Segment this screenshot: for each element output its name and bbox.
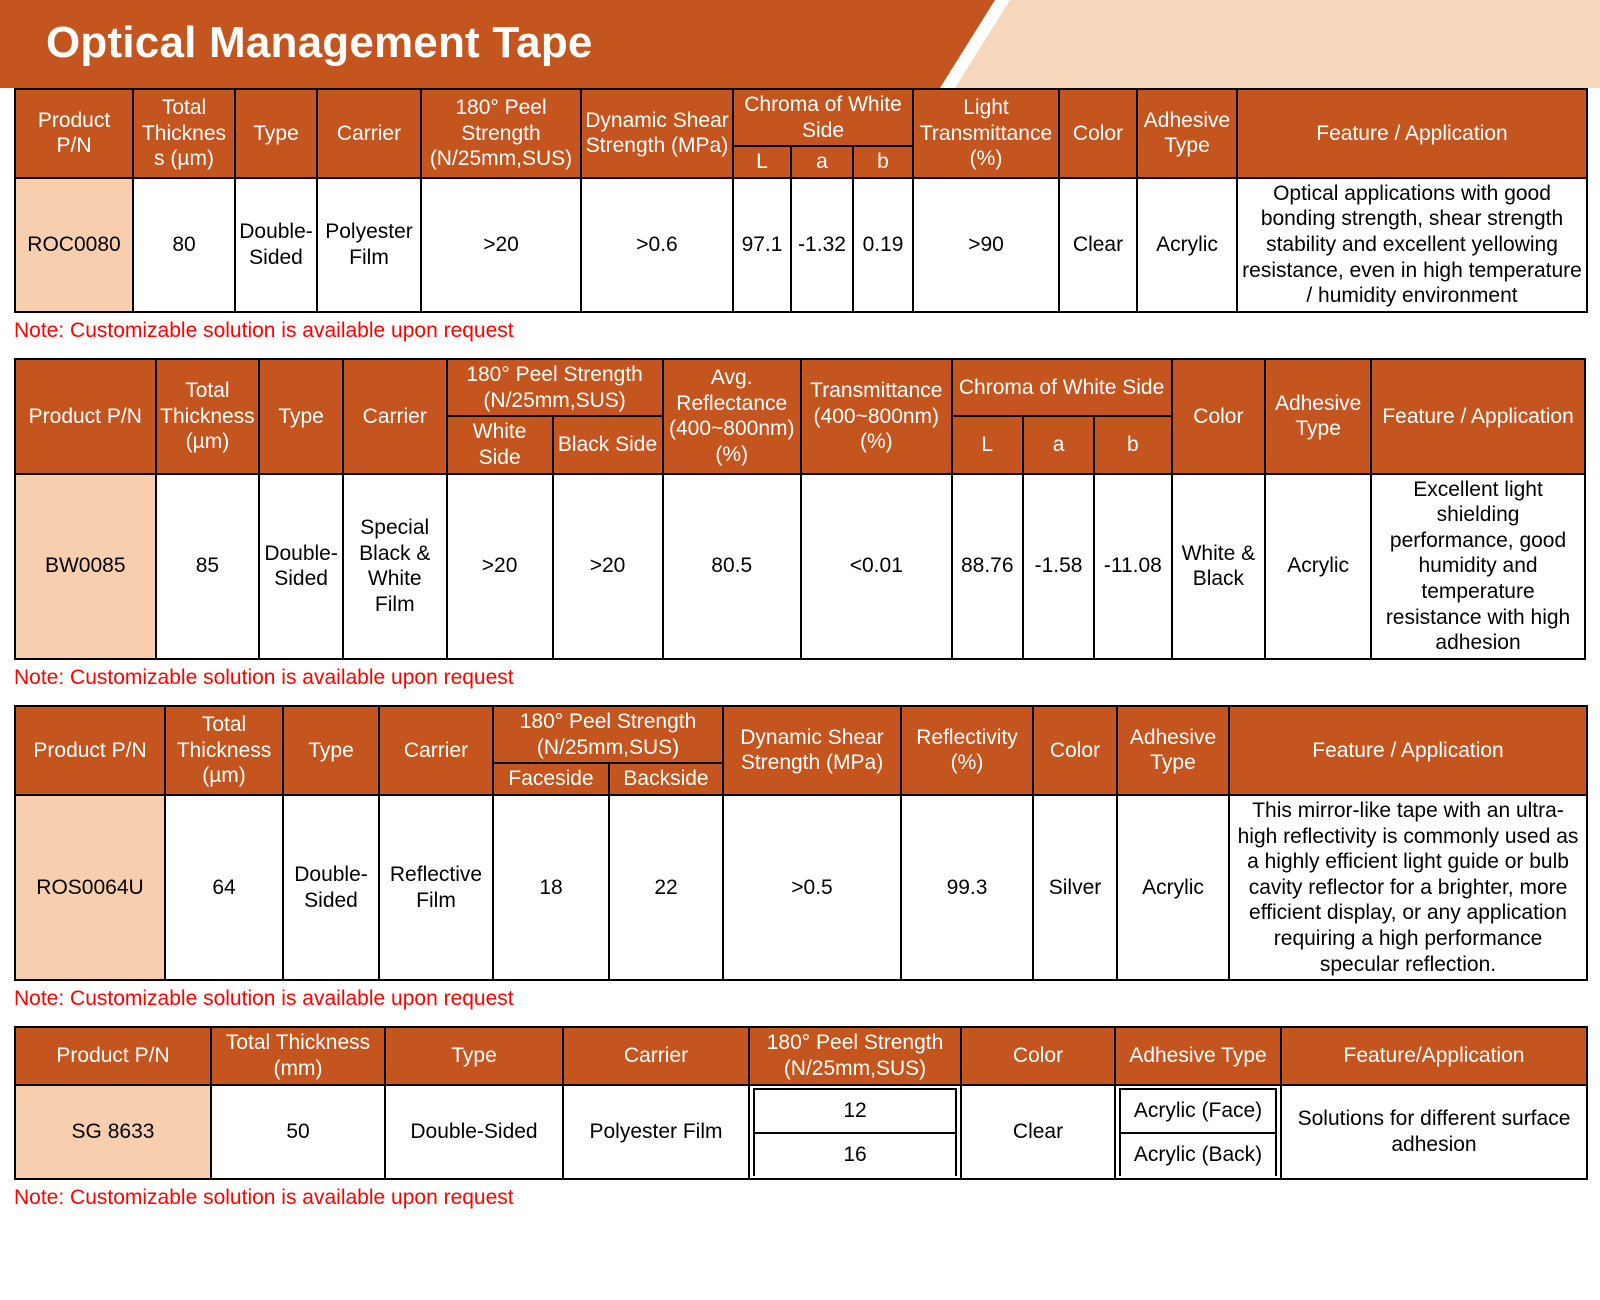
col-header-peel-backside: Backside <box>609 763 723 795</box>
cell-adhesive-type-group: Acrylic (Face) Acrylic (Back) <box>1115 1085 1281 1179</box>
cell-product-pn: ROC0080 <box>15 178 133 312</box>
table-row: ROS0064U 64 Double-Sided Reflective Film… <box>15 795 1587 980</box>
cell-chroma-l: 97.1 <box>733 178 791 312</box>
cell-carrier: Polyester Film <box>563 1085 749 1179</box>
table-row: SG 8633 50 Double-Sided Polyester Film 1… <box>15 1085 1587 1179</box>
cell-total-thickness: 50 <box>211 1085 385 1179</box>
cell-peel-strength-back: 16 <box>754 1133 956 1176</box>
cell-product-pn: ROS0064U <box>15 795 165 980</box>
col-header-product-pn: Product P/N <box>15 706 165 795</box>
cell-type: Double-Sided <box>385 1085 563 1179</box>
col-header-total-thickness: Total Thickness (µm) <box>165 706 283 795</box>
col-header-carrier: Carrier <box>563 1027 749 1084</box>
col-header-color: Color <box>1059 89 1137 178</box>
col-header-feature: Feature / Application <box>1371 359 1585 473</box>
table-bw0085: Product P/N Total Thickness (µm) Type Ca… <box>14 358 1586 660</box>
col-header-chroma-a: a <box>1023 416 1094 473</box>
table-row: BW0085 85 Double-Sided Special Black & W… <box>15 474 1585 659</box>
adhesive-type-stack: Acrylic (Face) Acrylic (Back) <box>1119 1088 1277 1176</box>
col-header-product-pn: Product P/N <box>15 89 133 178</box>
col-header-peel-strength: 180° Peel Strength (N/25mm,SUS) <box>421 89 581 178</box>
cell-chroma-b: -11.08 <box>1094 474 1171 659</box>
col-header-chroma-a: a <box>791 146 853 178</box>
col-header-feature: Feature / Application <box>1237 89 1587 178</box>
col-header-light-transmittance: Light Transmittance (%) <box>913 89 1059 178</box>
table-header-row: Product P/N Total Thickness (µm) Type Ca… <box>15 359 1585 416</box>
col-header-chroma-group: Chroma of White Side <box>952 359 1172 416</box>
col-header-dynamic-shear: Dynamic Shear Strength (MPa) <box>581 89 733 178</box>
col-header-type: Type <box>283 706 379 795</box>
col-header-chroma-l: L <box>952 416 1023 473</box>
col-header-adhesive-type: Adhesive Type <box>1137 89 1237 178</box>
cell-feature: This mirror-like tape with an ultra-high… <box>1229 795 1587 980</box>
col-header-dynamic-shear: Dynamic Shear Strength (MPa) <box>723 706 901 795</box>
table-header-row: Product P/N Total Thickness (µm) Type Ca… <box>15 706 1587 763</box>
cell-carrier: Polyester Film <box>317 178 421 312</box>
col-header-feature: Feature / Application <box>1229 706 1587 795</box>
note-table-4: Note: Customizable solution is available… <box>0 1180 1600 1211</box>
cell-adhesive-type-back: Acrylic (Back) <box>1120 1133 1276 1176</box>
cell-adhesive-type-face: Acrylic (Face) <box>1120 1089 1276 1133</box>
table-ros0064u-wrapper: Product P/N Total Thickness (µm) Type Ca… <box>0 705 1600 981</box>
col-header-color: Color <box>1172 359 1266 473</box>
col-header-peel-group: 180° Peel Strength (N/25mm,SUS) <box>493 706 723 763</box>
col-header-product-pn: Product P/N <box>15 359 156 473</box>
table-bw0085-wrapper: Product P/N Total Thickness (µm) Type Ca… <box>0 358 1600 660</box>
page-title: Optical Management Tape <box>46 18 593 68</box>
cell-color: Silver <box>1033 795 1117 980</box>
col-header-peel-strength: 180° Peel Strength (N/25mm,SUS) <box>749 1027 961 1084</box>
table-roc0080-wrapper: Product P/N Total Thickness (µm) Type Ca… <box>0 88 1600 313</box>
cell-total-thickness: 80 <box>133 178 235 312</box>
cell-type: Double-Sided <box>259 474 342 659</box>
col-header-peel-white-side: White Side <box>447 416 553 473</box>
col-header-color: Color <box>1033 706 1117 795</box>
cell-total-thickness: 64 <box>165 795 283 980</box>
cell-type: Double-Sided <box>235 178 317 312</box>
cell-peel-backside: 22 <box>609 795 723 980</box>
cell-carrier: Reflective Film <box>379 795 493 980</box>
col-header-chroma-b: b <box>1094 416 1171 473</box>
col-header-adhesive-type: Adhesive Type <box>1117 706 1229 795</box>
cell-reflectivity: 99.3 <box>901 795 1033 980</box>
note-table-3: Note: Customizable solution is available… <box>0 981 1600 1012</box>
cell-peel-black-side: >20 <box>553 474 663 659</box>
col-header-adhesive-type: Adhesive Type <box>1115 1027 1281 1084</box>
cell-feature: Optical applications with good bonding s… <box>1237 178 1587 312</box>
cell-transmittance: <0.01 <box>801 474 952 659</box>
cell-peel-strength-face: 12 <box>754 1089 956 1133</box>
table-header-row: Product P/N Total Thickness (µm) Type Ca… <box>15 89 1587 146</box>
table-sg8633: Product P/N Total Thickness (mm) Type Ca… <box>14 1026 1588 1179</box>
col-header-type: Type <box>235 89 317 178</box>
cell-color: Clear <box>961 1085 1115 1179</box>
cell-color: White & Black <box>1172 474 1266 659</box>
col-header-chroma-group: Chroma of White Side <box>733 89 913 146</box>
col-header-transmittance: Transmittance (400~800nm) (%) <box>801 359 952 473</box>
cell-avg-reflectance: 80.5 <box>663 474 801 659</box>
table-sg8633-wrapper: Product P/N Total Thickness (mm) Type Ca… <box>0 1026 1600 1179</box>
cell-chroma-b: 0.19 <box>853 178 913 312</box>
cell-light-transmittance: >90 <box>913 178 1059 312</box>
cell-peel-white-side: >20 <box>447 474 553 659</box>
cell-feature: Excellent light shielding performance, g… <box>1371 474 1585 659</box>
cell-dynamic-shear: >0.6 <box>581 178 733 312</box>
col-header-color: Color <box>961 1027 1115 1084</box>
col-header-feature: Feature/Application <box>1281 1027 1587 1084</box>
col-header-chroma-l: L <box>733 146 791 178</box>
col-header-carrier: Carrier <box>379 706 493 795</box>
table-ros0064u: Product P/N Total Thickness (µm) Type Ca… <box>14 705 1588 981</box>
col-header-peel-faceside: Faceside <box>493 763 609 795</box>
cell-product-pn: SG 8633 <box>15 1085 211 1179</box>
note-table-1: Note: Customizable solution is available… <box>0 313 1600 344</box>
cell-peel-faceside: 18 <box>493 795 609 980</box>
cell-adhesive-type: Acrylic <box>1117 795 1229 980</box>
cell-chroma-a: -1.32 <box>791 178 853 312</box>
cell-adhesive-type: Acrylic <box>1265 474 1371 659</box>
cell-chroma-a: -1.58 <box>1023 474 1094 659</box>
table-row: ROC0080 80 Double-Sided Polyester Film >… <box>15 178 1587 312</box>
col-header-carrier: Carrier <box>317 89 421 178</box>
col-header-adhesive-type: Adhesive Type <box>1265 359 1371 473</box>
col-header-peel-black-side: Black Side <box>553 416 663 473</box>
col-header-reflectivity: Reflectivity (%) <box>901 706 1033 795</box>
cell-dynamic-shear: >0.5 <box>723 795 901 980</box>
cell-product-pn: BW0085 <box>15 474 156 659</box>
cell-type: Double-Sided <box>283 795 379 980</box>
cell-peel-strength-group: 12 16 <box>749 1085 961 1179</box>
col-header-type: Type <box>385 1027 563 1084</box>
cell-total-thickness: 85 <box>156 474 260 659</box>
page-header-banner: Optical Management Tape <box>0 0 1600 88</box>
cell-chroma-l: 88.76 <box>952 474 1023 659</box>
col-header-type: Type <box>259 359 342 473</box>
col-header-product-pn: Product P/N <box>15 1027 211 1084</box>
peel-strength-stack: 12 16 <box>753 1088 957 1176</box>
col-header-carrier: Carrier <box>343 359 447 473</box>
cell-adhesive-type: Acrylic <box>1137 178 1237 312</box>
table-header-row: Product P/N Total Thickness (mm) Type Ca… <box>15 1027 1587 1084</box>
col-header-peel-group: 180° Peel Strength (N/25mm,SUS) <box>447 359 663 416</box>
col-header-avg-reflectance: Avg. Reflectance (400~800nm) (%) <box>663 359 801 473</box>
table-roc0080: Product P/N Total Thickness (µm) Type Ca… <box>14 88 1588 313</box>
cell-color: Clear <box>1059 178 1137 312</box>
col-header-total-thickness: Total Thickness (µm) <box>156 359 260 473</box>
col-header-chroma-b: b <box>853 146 913 178</box>
cell-carrier: Special Black & White Film <box>343 474 447 659</box>
cell-peel-strength: >20 <box>421 178 581 312</box>
cell-feature: Solutions for different surface adhesion <box>1281 1085 1587 1179</box>
col-header-total-thickness: Total Thickness (mm) <box>211 1027 385 1084</box>
col-header-total-thickness: Total Thickness (µm) <box>133 89 235 178</box>
note-table-2: Note: Customizable solution is available… <box>0 660 1600 691</box>
